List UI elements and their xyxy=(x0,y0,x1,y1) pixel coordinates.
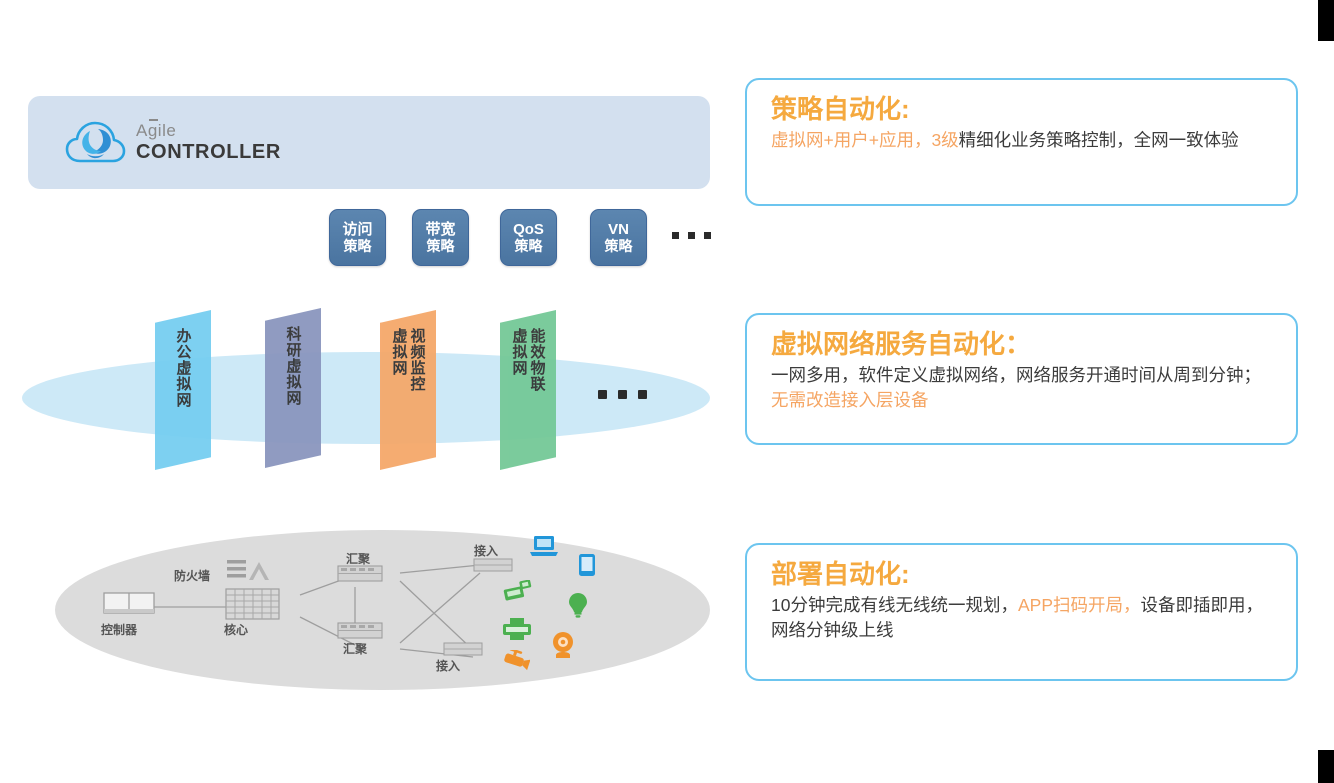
card-policy-automation-body-part-1: 虚拟网+用户+应用，3级 xyxy=(771,130,959,150)
slab-energy-iot-vn-label-1: 能效物联 xyxy=(529,328,546,392)
link-agg-top-access-bottom xyxy=(400,581,473,650)
badge-vn-policy-line1: VN xyxy=(608,221,629,238)
card-deployment-automation-body: 10分钟完成有线无线统一规划，APP扫码开局，设备即插即用，网络分钟级上线 xyxy=(771,593,1276,643)
slab-energy-iot-vn[interactable]: 能效物联 虚拟网 xyxy=(500,310,556,470)
ellipsis-dot xyxy=(598,390,607,399)
label-firewall: 防火墙 xyxy=(174,567,210,584)
controller-more-ellipsis xyxy=(672,232,711,239)
access-switch-top-icon xyxy=(473,558,513,572)
ellipsis-dot xyxy=(672,232,679,239)
agile-controller-logo: Agile CONTROLLER xyxy=(64,113,304,171)
controller-device-icon xyxy=(103,592,155,618)
link-agg-bottom-access-top xyxy=(400,573,480,643)
printer-icon xyxy=(502,617,532,641)
slab-video-surveillance-vn-label-2: 虚拟网 xyxy=(391,328,408,376)
virtual-network-more-ellipsis xyxy=(598,390,647,399)
access-switch-bottom-icon xyxy=(443,642,483,656)
card-deployment-automation-title: 部署自动化: xyxy=(771,559,1276,589)
logo-controller-label: CONTROLLER xyxy=(136,142,281,162)
badge-bandwidth-policy-line1: 带宽 xyxy=(425,221,455,238)
card-policy-automation-body-part-2: 精细化业务策略控制，全网一致体验 xyxy=(959,130,1239,150)
right-edge-bar-bottom xyxy=(1318,750,1334,783)
slab-energy-iot-vn-label-2: 虚拟网 xyxy=(511,328,528,376)
card-deploy-body-part-1: 10分钟完成有线无线统一规划， xyxy=(771,595,1018,615)
ellipsis-dot xyxy=(704,232,711,239)
badge-access-policy[interactable]: 访问 策略 xyxy=(329,209,386,266)
badge-bandwidth-policy-line2: 策略 xyxy=(427,238,455,255)
card-policy-automation-body: 虚拟网+用户+应用，3级精细化业务策略控制，全网一致体验 xyxy=(771,128,1276,153)
card-virtual-network-service-automation-title: 虚拟网络服务自动化： xyxy=(771,329,1276,359)
badge-qos-policy-line1: QoS xyxy=(513,221,544,238)
label-access-bottom: 接入 xyxy=(436,657,460,674)
security-camera-icon xyxy=(500,650,530,674)
light-bulb-icon xyxy=(568,592,588,618)
badge-qos-policy-line2: 策略 xyxy=(515,238,543,255)
firewall-icon xyxy=(227,558,269,584)
label-aggregation-top: 汇聚 xyxy=(346,550,370,567)
cloud-swirl-icon xyxy=(64,119,126,165)
card-virtual-network-service-automation: 虚拟网络服务自动化： 一网多用，软件定义虚拟网络，网络服务开通时间从周到分钟；无… xyxy=(745,313,1298,445)
card-vn-body-part-2: 无需改造接入层设备 xyxy=(771,390,929,410)
ellipsis-dot xyxy=(688,232,695,239)
label-controller: 控制器 xyxy=(101,621,137,638)
card-deployment-automation: 部署自动化: 10分钟完成有线无线统一规划，APP扫码开局，设备即插即用，网络分… xyxy=(745,543,1298,681)
core-switch-icon xyxy=(225,588,280,620)
webcam-icon xyxy=(550,631,576,659)
badge-qos-policy[interactable]: QoS 策略 xyxy=(500,209,557,266)
badge-bandwidth-policy[interactable]: 带宽 策略 xyxy=(412,209,469,266)
right-edge-bar-top xyxy=(1318,0,1334,41)
tablet-icon xyxy=(578,553,596,577)
card-vn-body-part-1: 一网多用，软件定义虚拟网络，网络服务开通时间从周到分钟； xyxy=(771,365,1261,385)
aggregation-switch-bottom-icon xyxy=(337,622,383,639)
badge-vn-policy-line2: 策略 xyxy=(605,238,633,255)
card-virtual-network-service-automation-body: 一网多用，软件定义虚拟网络，网络服务开通时间从周到分钟；无需改造接入层设备 xyxy=(771,363,1276,413)
card-deploy-body-part-2: APP扫码开局， xyxy=(1018,595,1141,615)
infographic-canvas: Agile CONTROLLER 访问 策略 带宽 策略 QoS 策略 VN 策… xyxy=(0,0,1334,783)
badge-vn-policy[interactable]: VN 策略 xyxy=(590,209,647,266)
logo-agile-text: Agile xyxy=(136,122,281,139)
aggregation-switch-top-icon xyxy=(337,565,383,582)
card-policy-automation-title: 策略自动化: xyxy=(771,94,1276,124)
logo-agile-label: Agile xyxy=(136,121,176,140)
slab-video-surveillance-vn-label-1: 视频监控 xyxy=(409,328,426,392)
label-aggregation-bottom: 汇聚 xyxy=(343,640,367,657)
laptop-icon xyxy=(529,534,559,558)
label-access-top: 接入 xyxy=(474,542,498,559)
slab-office-vn[interactable]: 办公虚拟网 xyxy=(155,310,211,470)
cash-register-icon xyxy=(502,580,534,602)
label-core: 核心 xyxy=(224,621,248,638)
link-agg-top-access-top xyxy=(400,565,480,573)
slab-office-vn-label: 办公虚拟网 xyxy=(175,328,192,408)
slab-video-surveillance-vn[interactable]: 视频监控 虚拟网 xyxy=(380,310,436,470)
card-policy-automation: 策略自动化: 虚拟网+用户+应用，3级精细化业务策略控制，全网一致体验 xyxy=(745,78,1298,206)
badge-access-policy-line1: 访问 xyxy=(342,221,372,238)
agile-controller-panel: Agile CONTROLLER 访问 策略 带宽 策略 QoS 策略 VN 策… xyxy=(28,96,710,189)
ellipsis-dot xyxy=(618,390,627,399)
slab-research-vn[interactable]: 科研虚拟网 xyxy=(265,308,321,468)
badge-access-policy-line2: 策略 xyxy=(344,238,372,255)
slab-research-vn-label: 科研虚拟网 xyxy=(285,326,302,406)
ellipsis-dot xyxy=(638,390,647,399)
